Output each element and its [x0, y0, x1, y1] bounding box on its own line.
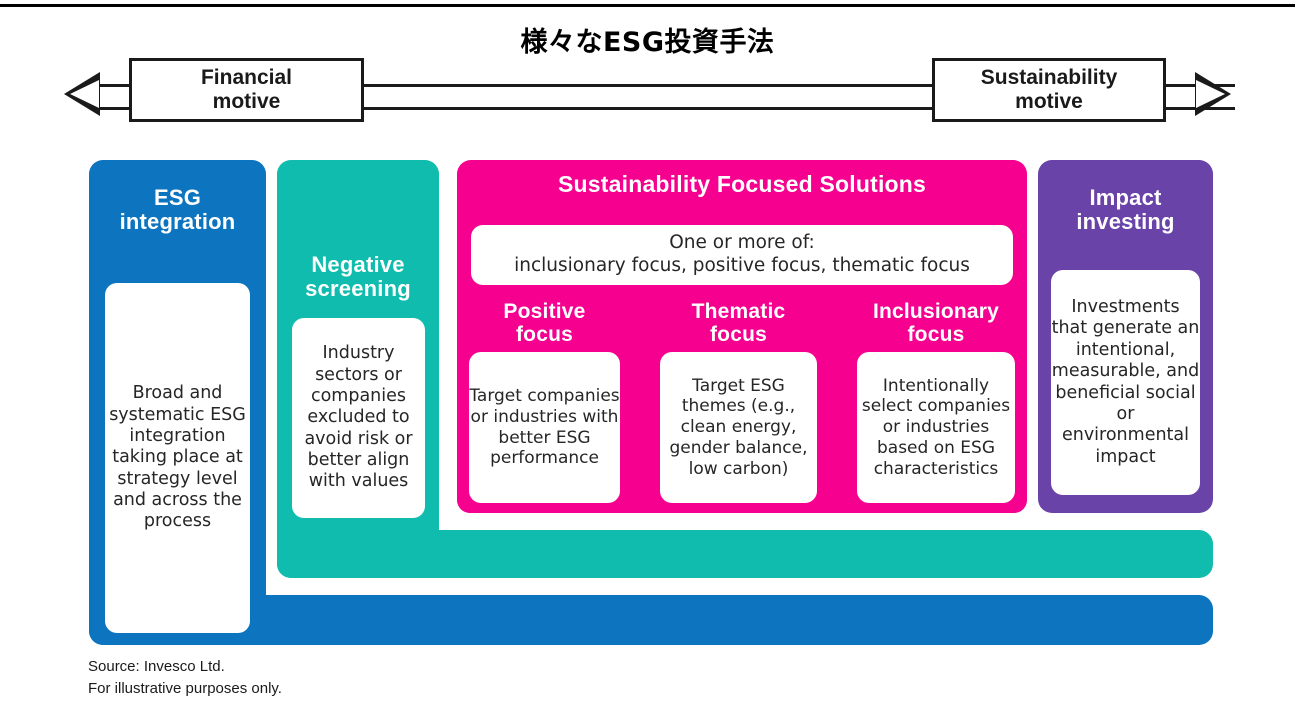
strategy-spectrum-body: ESG integration Broad and systematic ESG… — [0, 160, 1295, 650]
negative-screening-heading-line2: screening — [277, 277, 439, 301]
positive-focus-heading-line2: focus — [457, 323, 632, 346]
negative-screening-heading-line1: Negative — [277, 253, 439, 277]
esg-integration-body: Broad and systematic ESG integration tak… — [105, 383, 250, 532]
page-title: 様々なESG投資手法 — [0, 20, 1295, 59]
diagram-canvas: 様々なESG投資手法 Financial motive Sustainabili… — [0, 0, 1295, 720]
negative-screening-heading: Negative screening — [277, 253, 439, 301]
inclusionary-focus-heading-line2: focus — [845, 323, 1027, 346]
sustainability-motive-line1: Sustainability — [981, 66, 1118, 90]
top-divider-rule — [0, 4, 1295, 7]
motive-spectrum: Financial motive Sustainability motive — [0, 58, 1295, 130]
thematic-focus-heading: Thematic focus — [648, 300, 829, 346]
financial-motive-box: Financial motive — [129, 58, 364, 122]
footer-source: Source: Invesco Ltd. — [88, 656, 282, 678]
esg-integration-heading-line1: ESG — [89, 186, 266, 210]
esg-integration-heading: ESG integration — [89, 186, 266, 234]
impact-investing-heading: Impact investing — [1038, 186, 1213, 234]
positive-focus-card: Target companies or industries with bett… — [469, 352, 620, 503]
positive-focus-heading: Positive focus — [457, 300, 632, 346]
arrow-left-icon — [64, 72, 100, 116]
impact-investing-heading-line1: Impact — [1038, 186, 1213, 210]
footer-disclaimer: For illustrative purposes only. — [88, 678, 282, 700]
inclusionary-focus-card: Intentionally select companies or indust… — [857, 352, 1015, 503]
thematic-focus-body: Target ESG themes (e.g., clean energy, g… — [660, 376, 817, 480]
esg-integration-card: Broad and systematic ESG integration tak… — [105, 283, 250, 633]
thematic-focus-heading-line1: Thematic — [648, 300, 829, 323]
esg-integration-heading-line2: integration — [89, 210, 266, 234]
financial-motive-line1: Financial — [201, 66, 292, 90]
sustainability-motive-line2: motive — [981, 90, 1118, 114]
positive-focus-heading-line1: Positive — [457, 300, 632, 323]
impact-investing-heading-line2: investing — [1038, 210, 1213, 234]
inclusionary-focus-body: Intentionally select companies or indust… — [857, 376, 1015, 480]
negative-screening-card: Industry sectors or companies excluded t… — [292, 318, 425, 518]
financial-motive-line2: motive — [201, 90, 292, 114]
positive-focus-body: Target companies or industries with bett… — [469, 386, 620, 469]
thematic-focus-heading-line2: focus — [648, 323, 829, 346]
sfs-summary-line2: inclusionary focus, positive focus, them… — [471, 255, 1013, 278]
impact-investing-body: Investments that generate an intentional… — [1051, 297, 1200, 468]
footer-notes: Source: Invesco Ltd. For illustrative pu… — [88, 656, 282, 700]
sustainability-focused-solutions-heading: Sustainability Focused Solutions — [457, 172, 1027, 197]
sustainability-focused-solutions-summary-card: One or more of: inclusionary focus, posi… — [471, 225, 1013, 285]
negative-screening-body: Industry sectors or companies excluded t… — [292, 343, 425, 492]
thematic-focus-card: Target ESG themes (e.g., clean energy, g… — [660, 352, 817, 503]
inclusionary-focus-heading-line1: Inclusionary — [845, 300, 1027, 323]
arrow-right-icon — [1195, 72, 1231, 116]
sfs-summary-line1: One or more of: — [471, 232, 1013, 255]
inclusionary-focus-heading: Inclusionary focus — [845, 300, 1027, 346]
impact-investing-card: Investments that generate an intentional… — [1051, 270, 1200, 495]
sustainability-motive-box: Sustainability motive — [932, 58, 1166, 122]
